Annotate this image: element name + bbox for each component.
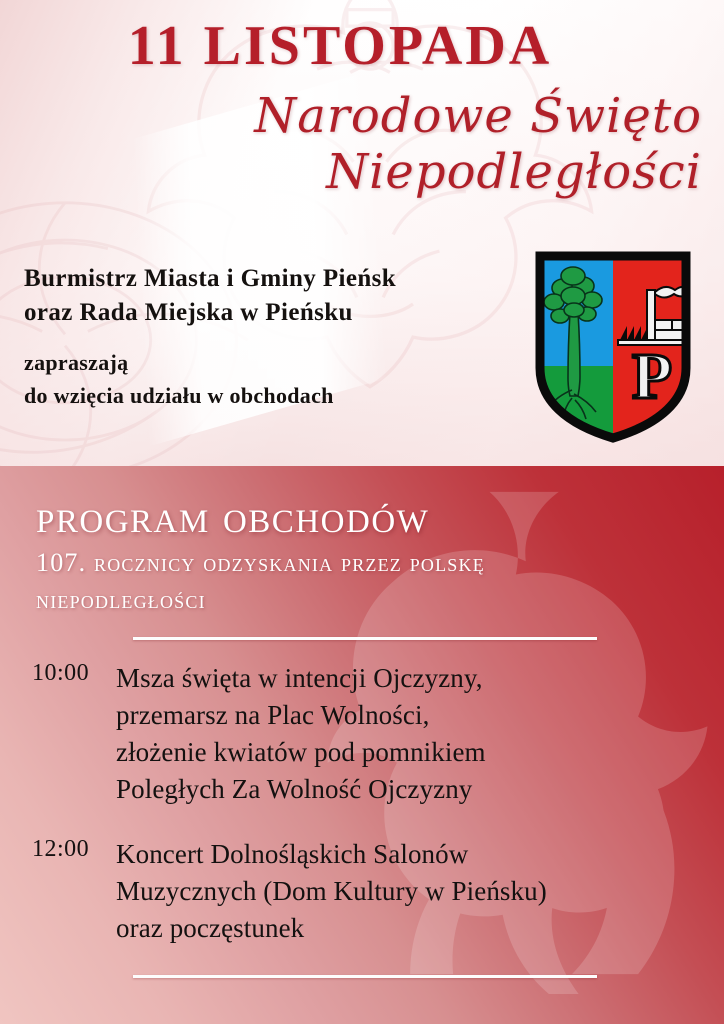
program-subheading-line-2: niepodległości — [36, 581, 686, 618]
invitation-line-4: do wzięcia udziału w obchodach — [24, 379, 494, 412]
program-subheading-line-1: 107. rocznicy odzyskania przez Polskę — [36, 544, 686, 581]
coat-of-arms-piensk: P — [532, 248, 694, 444]
schedule-item-time: 10:00 — [32, 660, 89, 687]
program-schedule-list: 10:00 Msza święta w intencji Ojczyzny, p… — [0, 660, 724, 975]
divider-bottom — [133, 975, 597, 978]
schedule-item: 10:00 Msza święta w intencji Ojczyzny, p… — [0, 660, 724, 808]
coat-of-arms-icon: P — [532, 248, 694, 444]
header-section: 11 LISTOPADA Narodowe Święto Niepodległo… — [0, 0, 724, 466]
schedule-item-time: 12:00 — [32, 836, 89, 863]
invitation-spacer — [24, 330, 494, 346]
schedule-line: Msza święta w intencji Ojczyzny, — [116, 660, 724, 697]
schedule-line: przemarsz na Plac Wolności, — [116, 697, 724, 734]
schedule-item: 12:00 Koncert Dolnośląskich Salonów Muzy… — [0, 836, 724, 947]
invitation-block: Burmistrz Miasta i Gminy Pieńsk oraz Rad… — [24, 262, 494, 412]
letter-p-charge: P — [632, 340, 672, 413]
schedule-item-description: Msza święta w intencji Ojczyzny, przemar… — [32, 660, 724, 808]
divider-top — [133, 637, 597, 640]
subtitle-line-1: Narodowe Święto — [0, 88, 702, 144]
schedule-line: oraz poczęstunek — [116, 910, 724, 947]
schedule-line: złożenie kwiatów pod pomnikiem — [116, 734, 724, 771]
page-title: 11 LISTOPADA — [0, 14, 680, 78]
invitation-line-1: Burmistrz Miasta i Gminy Pieńsk — [24, 262, 494, 296]
schedule-item-description: Koncert Dolnośląskich Salonów Muzycznych… — [32, 836, 724, 947]
program-heading: Program obchodów — [36, 490, 429, 544]
subtitle-line-2: Niepodległości — [0, 144, 702, 200]
poster-root: 11 LISTOPADA Narodowe Święto Niepodległo… — [0, 0, 724, 1024]
schedule-line: Poległych Za Wolność Ojczyzny — [116, 771, 724, 808]
invitation-line-2: oraz Rada Miejska w Pieńsku — [24, 296, 494, 330]
subtitle-script: Narodowe Święto Niepodległości — [0, 88, 716, 200]
program-subheading: 107. rocznicy odzyskania przez Polskę ni… — [36, 544, 686, 618]
schedule-line: Koncert Dolnośląskich Salonów — [116, 836, 724, 873]
schedule-line: Muzycznych (Dom Kultury w Pieńsku) — [116, 873, 724, 910]
program-section: Program obchodów 107. rocznicy odzyskani… — [0, 466, 724, 1024]
letter-p-glyph: P — [632, 340, 672, 413]
invitation-line-3: zapraszają — [24, 346, 494, 379]
